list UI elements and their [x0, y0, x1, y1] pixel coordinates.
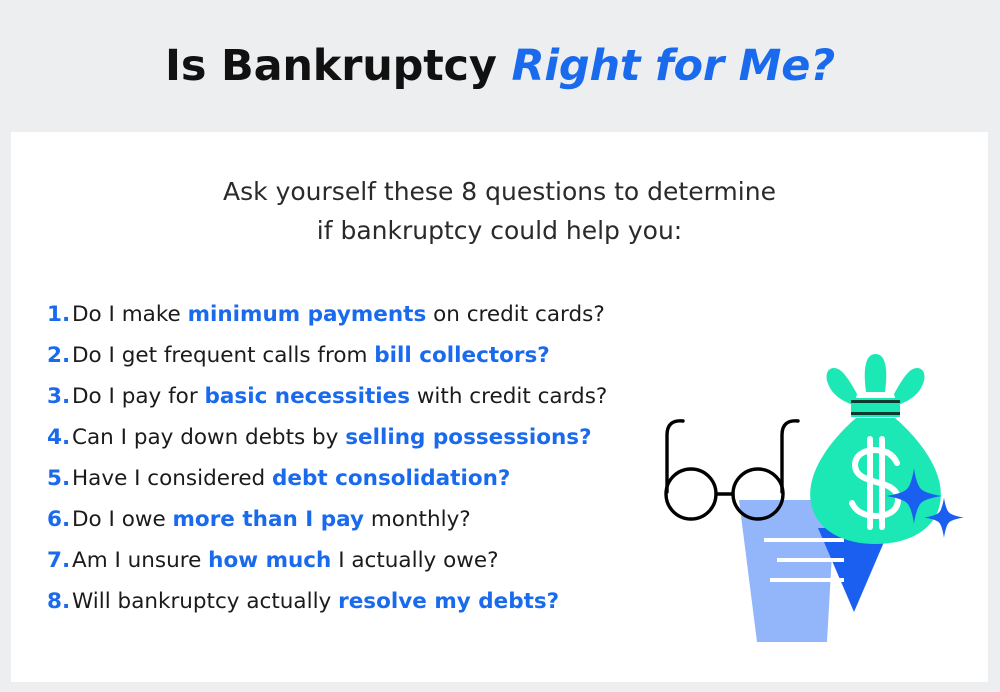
money-bag-icon — [810, 354, 941, 544]
question-text-highlight: selling possessions? — [345, 425, 591, 450]
subtitle-line-1: Ask yourself these 8 questions to determ… — [11, 172, 988, 211]
question-text-before: Do I make — [72, 302, 188, 327]
question-text-before: Do I get frequent calls from — [72, 343, 374, 368]
question-number: 7. — [47, 548, 72, 573]
question-number: 3. — [47, 384, 72, 409]
question-text-before: Do I pay for — [72, 384, 205, 409]
question-item: 5. Have I considered debt consolidation? — [47, 466, 667, 507]
finance-illustration — [651, 332, 981, 642]
question-text: Have I considered debt consolidation? — [72, 466, 510, 491]
header-band: Is Bankruptcy Right for Me? — [0, 0, 1000, 132]
question-text: Do I pay for basic necessities with cred… — [72, 384, 607, 409]
question-text-highlight: how much — [208, 548, 331, 573]
subtitle: Ask yourself these 8 questions to determ… — [11, 172, 988, 250]
question-text: Can I pay down debts by selling possessi… — [72, 425, 592, 450]
question-text-after: with credit cards? — [410, 384, 607, 409]
question-text-after: I actually owe? — [331, 548, 498, 573]
question-text-highlight: more than I pay — [173, 507, 364, 532]
question-text-before: Can I pay down debts by — [72, 425, 345, 450]
question-number: 1. — [47, 302, 72, 327]
question-text-highlight: debt consolidation? — [272, 466, 510, 491]
question-item: 7. Am I unsure how much I actually owe? — [47, 548, 667, 589]
question-text-after: monthly? — [364, 507, 471, 532]
question-text-before: Have I considered — [72, 466, 272, 491]
page-title-primary: Is Bankruptcy — [165, 41, 497, 91]
question-item: 2. Do I get frequent calls from bill col… — [47, 343, 667, 384]
question-number: 2. — [47, 343, 72, 368]
question-text: Will bankruptcy actually resolve my debt… — [72, 589, 559, 614]
question-list: 1. Do I make minimum payments on credit … — [47, 302, 667, 630]
question-text-before: Will bankruptcy actually — [72, 589, 338, 614]
question-item: 1. Do I make minimum payments on credit … — [47, 302, 667, 343]
question-number: 5. — [47, 466, 72, 491]
question-item: 6. Do I owe more than I pay monthly? — [47, 507, 667, 548]
question-text-highlight: resolve my debts? — [338, 589, 559, 614]
question-text-before: Do I owe — [72, 507, 173, 532]
subtitle-line-2: if bankruptcy could help you: — [11, 211, 988, 250]
question-item: 3. Do I pay for basic necessities with c… — [47, 384, 667, 425]
question-text-after: on credit cards? — [426, 302, 604, 327]
page-title: Is Bankruptcy Right for Me? — [0, 0, 1000, 132]
content-card: Ask yourself these 8 questions to determ… — [11, 132, 988, 682]
question-item: 4. Can I pay down debts by selling posse… — [47, 425, 667, 466]
question-text: Do I make minimum payments on credit car… — [72, 302, 605, 327]
question-text: Am I unsure how much I actually owe? — [72, 548, 498, 573]
question-text: Do I owe more than I pay monthly? — [72, 507, 471, 532]
question-number: 4. — [47, 425, 72, 450]
question-text: Do I get frequent calls from bill collec… — [72, 343, 550, 368]
question-number: 6. — [47, 507, 72, 532]
page-title-accent: Right for Me? — [511, 41, 835, 91]
question-number: 8. — [47, 589, 72, 614]
question-text-before: Am I unsure — [72, 548, 208, 573]
question-text-highlight: minimum payments — [188, 302, 427, 327]
question-text-highlight: basic necessities — [205, 384, 411, 409]
question-item: 8. Will bankruptcy actually resolve my d… — [47, 589, 667, 630]
question-text-highlight: bill collectors? — [374, 343, 550, 368]
